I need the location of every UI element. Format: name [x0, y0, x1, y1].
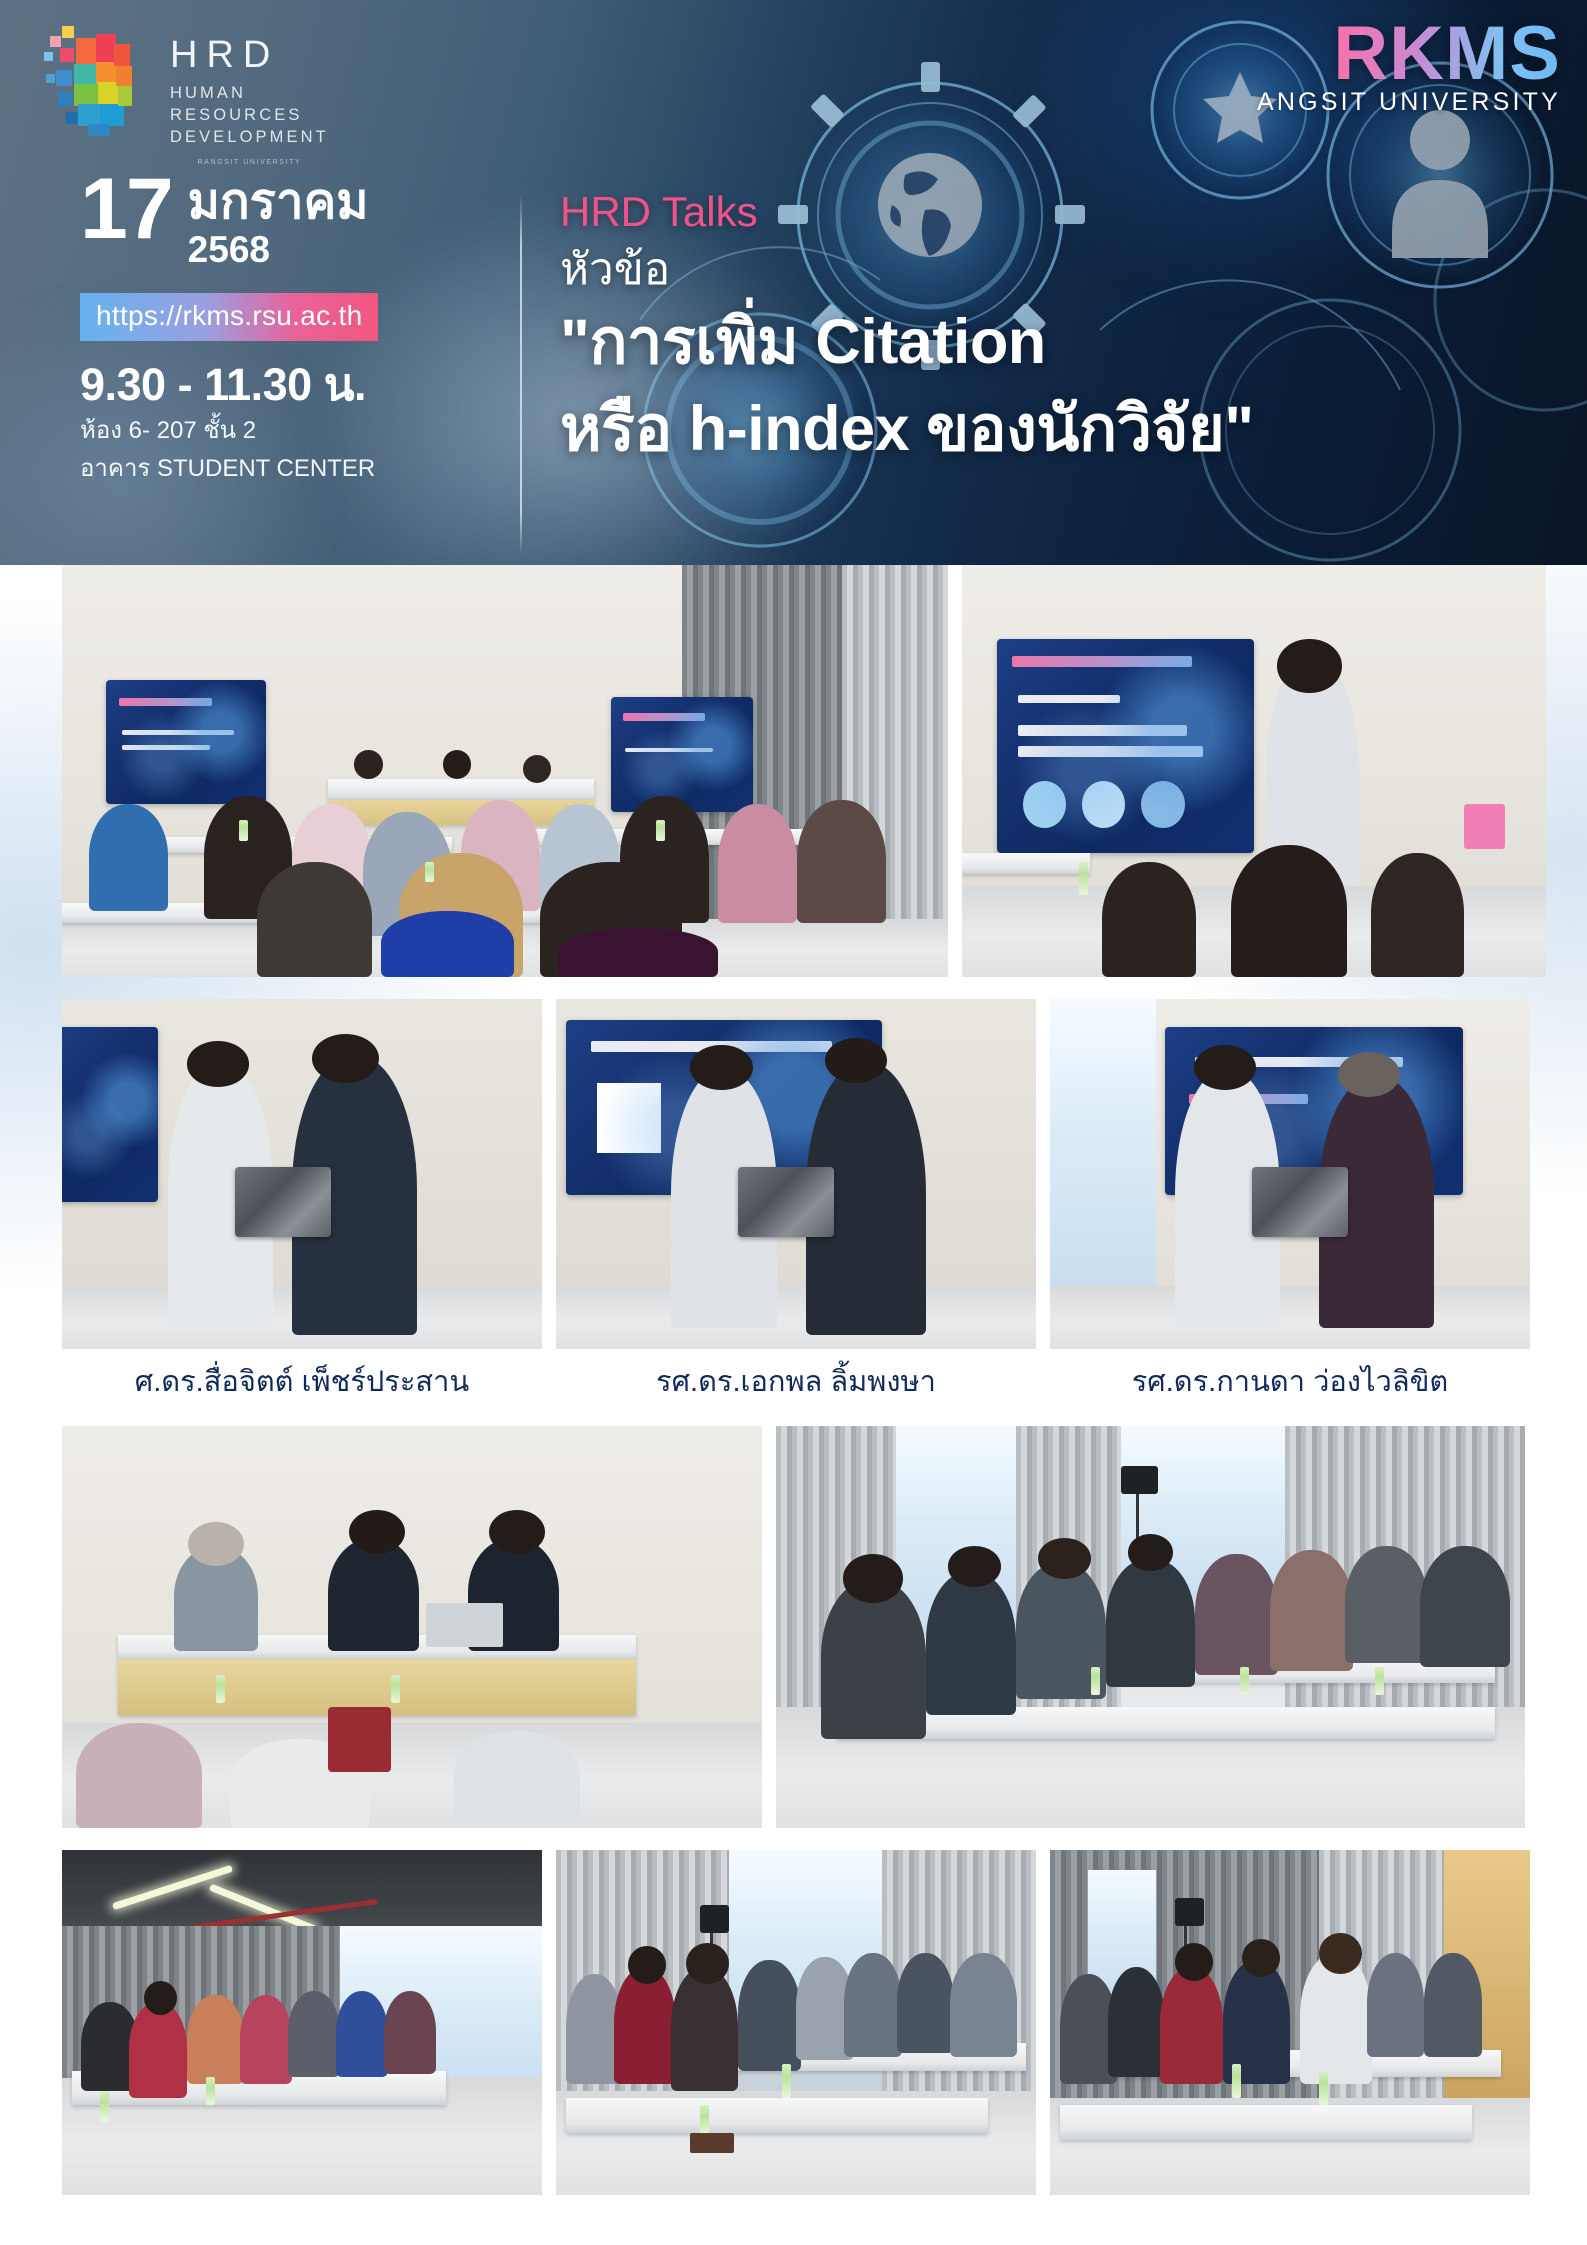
photo-row-1 [0, 565, 1587, 977]
hrd-sub-line-2: RESOURCES [170, 105, 329, 127]
event-year: 2568 [188, 230, 369, 271]
header-banner: HRD HUMAN RESOURCES DEVELOPMENT RANGSIT … [0, 0, 1587, 565]
photo-award-1 [62, 999, 542, 1349]
photo-award-3 [1050, 999, 1530, 1349]
hrd-logo-title: HRD [170, 36, 329, 74]
topic-label: หัวข้อ [560, 246, 1560, 294]
photo-award-2 [556, 999, 1036, 1349]
speaker-captions: ศ.ดร.สื่อจิตต์ เพ็ชร์ประสาน รศ.ดร.เอกพล … [0, 1365, 1587, 1400]
hrd-university-label: RANGSIT UNIVERSITY [170, 159, 329, 166]
headline-line-1: "การเพิ่ม Citation [560, 304, 1560, 381]
rkms-logo-text: RKMS [1257, 18, 1561, 90]
event-info-column: 17 มกราคม 2568 https://rkms.rsu.ac.th 9.… [80, 170, 500, 485]
event-room: ห้อง 6- 207 ชั้น 2 [80, 415, 500, 447]
hrd-logo-subtitle: HUMAN RESOURCES DEVELOPMENT [170, 83, 329, 149]
photo-row-2 [0, 999, 1587, 1349]
event-day: 17 [80, 170, 172, 249]
event-time: 9.30 - 11.30 น. [80, 361, 500, 410]
event-month: มกราคม [188, 178, 369, 227]
headline-line-2: หรือ h-index ของนักวิจัย" [560, 391, 1560, 468]
photo-row-4 [0, 1850, 1587, 2195]
photo-speaker-presenting [962, 565, 1546, 977]
speaker-caption-1: ศ.ดร.สื่อจิตต์ เพ็ชร์ประสาน [62, 1365, 542, 1400]
photo-attendees-right [1050, 1850, 1530, 2195]
photo-attendees-tables [776, 1426, 1525, 1828]
photo-attendees-centre [556, 1850, 1036, 2195]
poster-root: HRD HUMAN RESOURCES DEVELOPMENT RANGSIT … [0, 0, 1587, 2245]
series-label: HRD Talks [560, 190, 1560, 234]
event-building: อาคาร STUDENT CENTER [80, 453, 500, 485]
event-url-badge[interactable]: https://rkms.rsu.ac.th [80, 293, 378, 341]
hrd-sub-line-3: DEVELOPMENT [170, 127, 329, 149]
photo-room-wide-left [62, 1850, 542, 2195]
speaker-caption-3: รศ.ดร.กานดา ว่องไวลิขิต [1050, 1365, 1530, 1400]
hrd-logo: HRD HUMAN RESOURCES DEVELOPMENT RANGSIT … [38, 18, 329, 166]
speaker-caption-2: รศ.ดร.เอกพล ลิ้มพงษา [556, 1365, 1036, 1400]
photo-audience-panel [62, 565, 948, 977]
headline-column: HRD Talks หัวข้อ "การเพิ่ม Citation หรือ… [560, 190, 1560, 468]
photo-row-3 [0, 1426, 1587, 1828]
rkms-logo: RKMS ANGSIT UNIVERSITY [1257, 18, 1561, 117]
hrd-sub-line-1: HUMAN [170, 83, 329, 105]
hrd-head-icon [38, 18, 156, 138]
photo-panel-table [62, 1426, 762, 1828]
photo-gallery: ศ.ดร.สื่อจิตต์ เพ็ชร์ประสาน รศ.ดร.เอกพล … [0, 565, 1587, 2211]
header-vertical-divider [520, 195, 522, 555]
event-date: 17 มกราคม 2568 [80, 170, 500, 271]
